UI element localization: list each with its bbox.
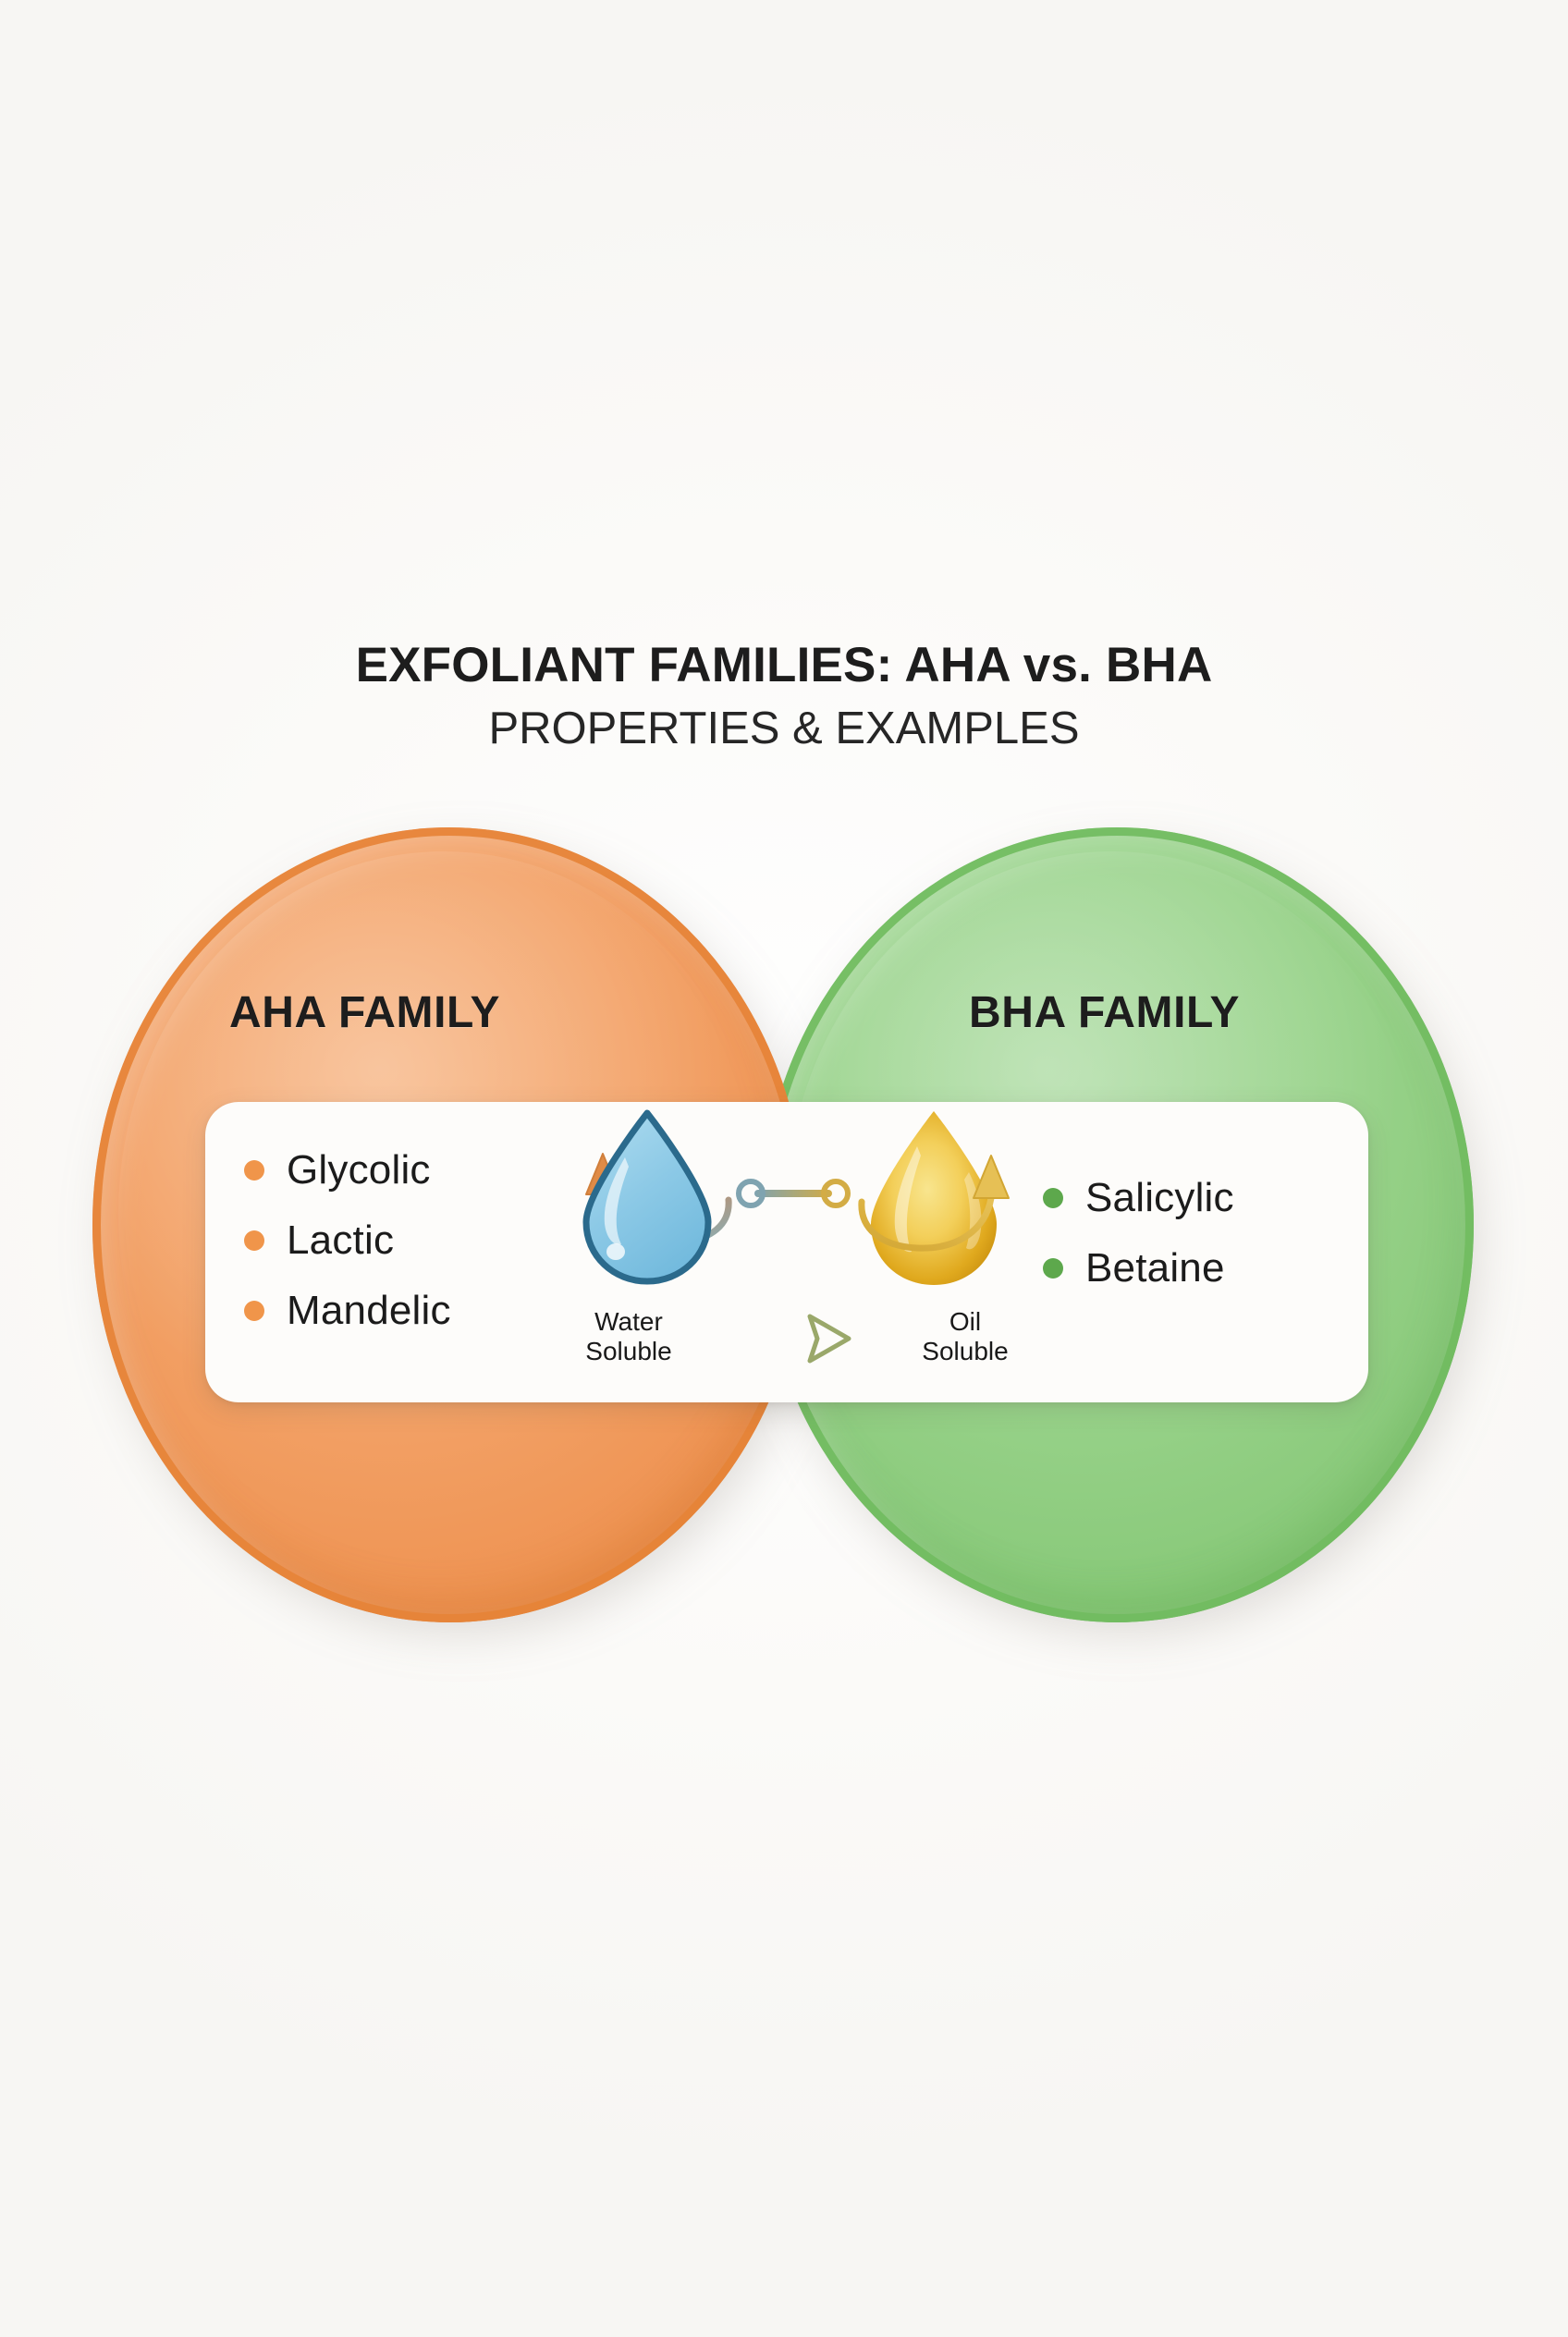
aha-family-heading: AHA FAMILY — [229, 987, 500, 1038]
list-item[interactable]: Glycolic — [244, 1135, 451, 1205]
list-item[interactable]: Salicylic — [1043, 1163, 1234, 1233]
bullet-icon — [244, 1160, 264, 1181]
list-item-label: Glycolic — [287, 1147, 431, 1193]
water-soluble-label-line1: Water — [555, 1307, 703, 1337]
list-item[interactable]: Lactic — [244, 1205, 451, 1276]
bullet-icon — [244, 1230, 264, 1251]
list-item[interactable]: Betaine — [1043, 1233, 1234, 1303]
water-soluble-label-line2: Soluble — [555, 1337, 703, 1366]
right-arrow-icon — [716, 1316, 849, 1361]
page-subtitle: PROPERTIES & EXAMPLES — [0, 702, 1568, 756]
title-block: EXFOLIANT FAMILIES: AHA vs. BHA PROPERTI… — [0, 638, 1568, 756]
water-soluble-label: Water Soluble — [555, 1307, 703, 1366]
bullet-icon — [244, 1301, 264, 1321]
list-item-label: Lactic — [287, 1217, 394, 1264]
oil-soluble-label-line2: Soluble — [891, 1337, 1039, 1366]
dumbbell-connector-icon — [739, 1181, 848, 1205]
list-item-label: Mandelic — [287, 1288, 451, 1334]
list-item-label: Betaine — [1085, 1245, 1225, 1291]
bha-ingredient-list: Salicylic Betaine — [1043, 1163, 1234, 1303]
aha-ingredient-list: Glycolic Lactic Mandelic — [244, 1135, 451, 1346]
water-droplet-icon — [586, 1113, 708, 1281]
list-item-label: Salicylic — [1085, 1175, 1234, 1221]
bha-family-heading: BHA FAMILY — [969, 987, 1240, 1038]
solubility-diagram: Water Soluble Oil Soluble — [536, 1106, 1054, 1401]
list-item[interactable]: Mandelic — [244, 1276, 451, 1346]
infographic-canvas: EXFOLIANT FAMILIES: AHA vs. BHA PROPERTI… — [0, 0, 1568, 2337]
page-title: EXFOLIANT FAMILIES: AHA vs. BHA — [0, 638, 1568, 692]
oil-soluble-label-line1: Oil — [891, 1307, 1039, 1337]
oil-soluble-label: Oil Soluble — [891, 1307, 1039, 1366]
